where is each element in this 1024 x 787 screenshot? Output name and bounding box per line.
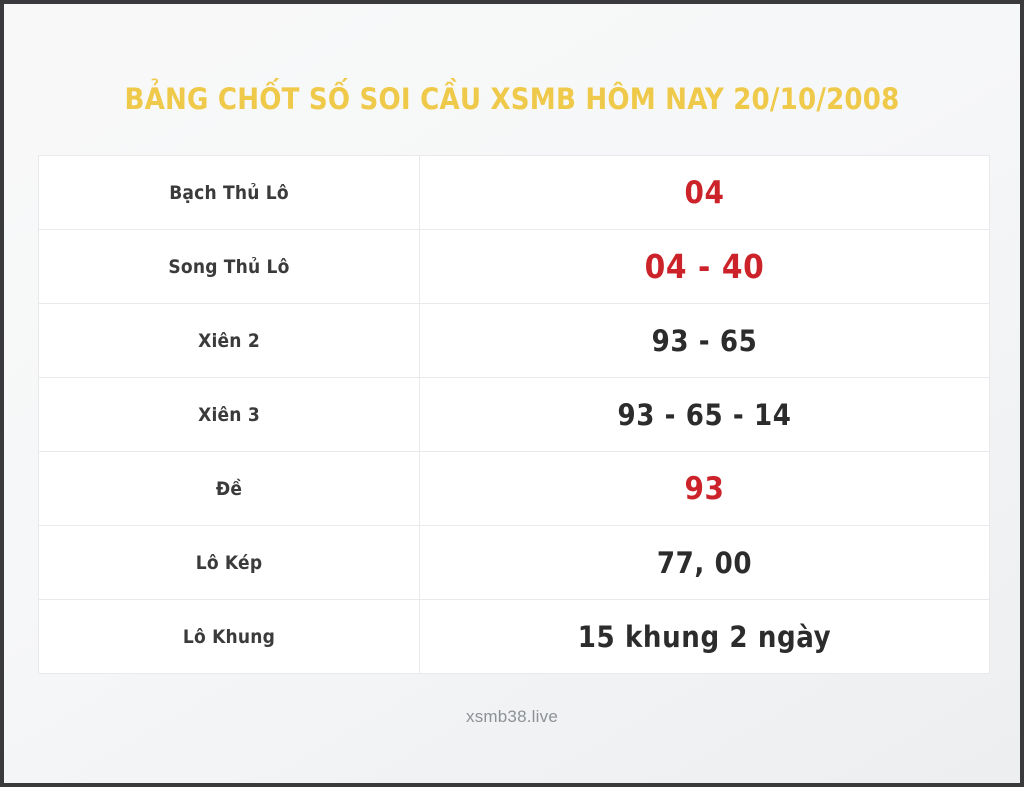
table-row: Lô Kép 77, 00 bbox=[39, 526, 990, 600]
row-label-de: Đề bbox=[39, 452, 420, 526]
table-row: Lô Khung 15 khung 2 ngày bbox=[39, 600, 990, 674]
table-row: Đề 93 bbox=[39, 452, 990, 526]
site-watermark: xsmb38.live bbox=[4, 707, 1020, 727]
row-label-lo-kep: Lô Kép bbox=[39, 526, 420, 600]
row-value-xien-3: 93 - 65 - 14 bbox=[420, 378, 990, 452]
table-row: Bạch Thủ Lô 04 bbox=[39, 156, 990, 230]
row-value-de: 93 bbox=[420, 452, 990, 526]
row-label-xien-2: Xiên 2 bbox=[39, 304, 420, 378]
row-label-bach-thu-lo: Bạch Thủ Lô bbox=[39, 156, 420, 230]
table-row: Song Thủ Lô 04 - 40 bbox=[39, 230, 990, 304]
row-value-bach-thu-lo: 04 bbox=[420, 156, 990, 230]
page-canvas: BẢNG CHỐT SỐ SOI CẦU XSMB HÔM NAY 20/10/… bbox=[4, 4, 1020, 783]
row-label-xien-3: Xiên 3 bbox=[39, 378, 420, 452]
row-value-lo-kep: 77, 00 bbox=[420, 526, 990, 600]
table-row: Xiên 3 93 - 65 - 14 bbox=[39, 378, 990, 452]
row-value-song-thu-lo: 04 - 40 bbox=[420, 230, 990, 304]
row-value-xien-2: 93 - 65 bbox=[420, 304, 990, 378]
row-value-lo-khung: 15 khung 2 ngày bbox=[420, 600, 990, 674]
page-title: BẢNG CHỐT SỐ SOI CẦU XSMB HÔM NAY 20/10/… bbox=[4, 82, 1020, 116]
lottery-prediction-table: Bạch Thủ Lô 04 Song Thủ Lô 04 - 40 Xiên … bbox=[38, 155, 990, 674]
row-label-lo-khung: Lô Khung bbox=[39, 600, 420, 674]
table-body: Bạch Thủ Lô 04 Song Thủ Lô 04 - 40 Xiên … bbox=[39, 156, 990, 674]
lottery-board-container: Bạch Thủ Lô 04 Song Thủ Lô 04 - 40 Xiên … bbox=[38, 155, 990, 674]
table-row: Xiên 2 93 - 65 bbox=[39, 304, 990, 378]
row-label-song-thu-lo: Song Thủ Lô bbox=[39, 230, 420, 304]
